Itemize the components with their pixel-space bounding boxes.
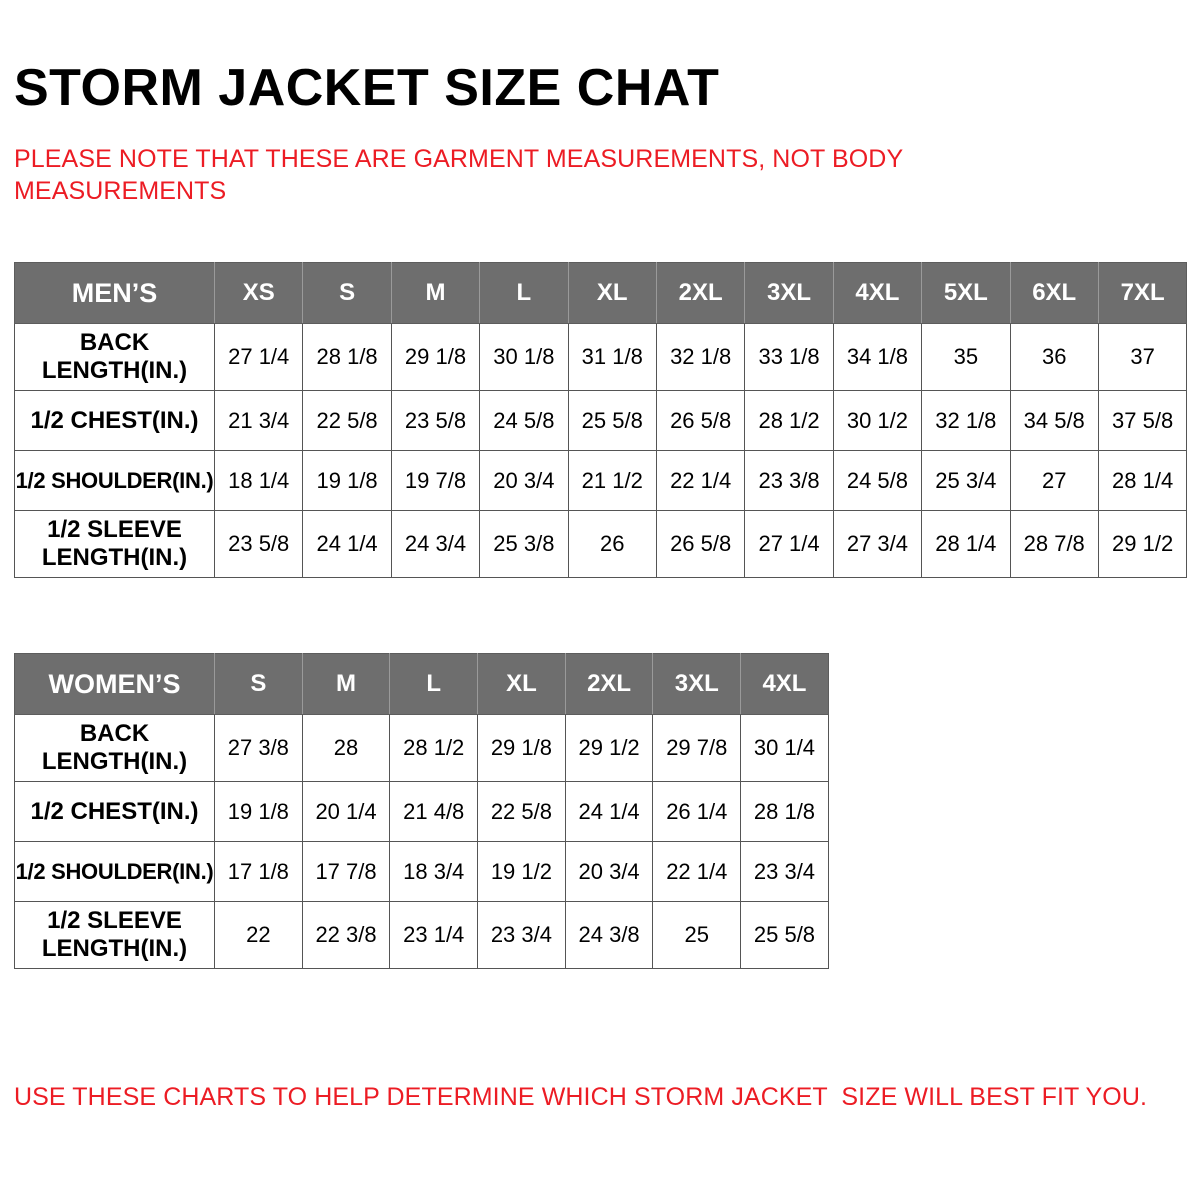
measurement-cell: 30 1/8 bbox=[480, 324, 568, 391]
measurement-cell: 28 7/8 bbox=[1010, 511, 1098, 578]
measurement-cell: 23 3/4 bbox=[478, 902, 566, 969]
mens-header-size-xl: XL bbox=[568, 263, 656, 324]
mens-row-label: 1/2 SLEEVELENGTH(IN.) bbox=[15, 511, 215, 578]
measurement-cell: 32 1/8 bbox=[922, 391, 1010, 451]
womens-header-size-s: S bbox=[215, 654, 303, 715]
page-title: STORM JACKET SIZE CHAT bbox=[14, 61, 719, 116]
measurement-cell: 28 1/8 bbox=[741, 782, 829, 842]
measurement-cell: 19 1/8 bbox=[303, 451, 391, 511]
measurement-cell: 20 1/4 bbox=[302, 782, 390, 842]
mens-header-size-4xl: 4XL bbox=[833, 263, 921, 324]
mens-header-size-7xl: 7XL bbox=[1098, 263, 1186, 324]
measurement-cell: 30 1/4 bbox=[741, 715, 829, 782]
mens-row-label: 1/2 SHOULDER(IN.) bbox=[15, 451, 215, 511]
measurement-cell: 26 5/8 bbox=[656, 511, 744, 578]
measurement-cell: 26 5/8 bbox=[656, 391, 744, 451]
womens-row-label: 1/2 SHOULDER(IN.) bbox=[15, 842, 215, 902]
womens-row-label: BACKLENGTH(IN.) bbox=[15, 715, 215, 782]
measurement-cell: 27 bbox=[1010, 451, 1098, 511]
mens-header-size-xs: XS bbox=[215, 263, 303, 324]
measurement-cell: 23 5/8 bbox=[391, 391, 479, 451]
measurement-cell: 23 5/8 bbox=[215, 511, 303, 578]
mens-header-size-6xl: 6XL bbox=[1010, 263, 1098, 324]
womens-header-size-2xl: 2XL bbox=[565, 654, 653, 715]
measurement-cell: 25 3/8 bbox=[480, 511, 568, 578]
garment-measurement-note: PLEASE NOTE THAT THESE ARE GARMENT MEASU… bbox=[14, 143, 974, 207]
mens-header-size-2xl: 2XL bbox=[656, 263, 744, 324]
measurement-cell: 25 5/8 bbox=[741, 902, 829, 969]
measurement-cell: 22 1/4 bbox=[656, 451, 744, 511]
measurement-cell: 31 1/8 bbox=[568, 324, 656, 391]
measurement-cell: 22 bbox=[215, 902, 303, 969]
measurement-cell: 17 1/8 bbox=[215, 842, 303, 902]
measurement-cell: 21 3/4 bbox=[215, 391, 303, 451]
measurement-cell: 27 3/4 bbox=[833, 511, 921, 578]
table-row: BACKLENGTH(IN.)27 1/428 1/829 1/830 1/83… bbox=[15, 324, 1187, 391]
table-row: BACKLENGTH(IN.)27 3/82828 1/229 1/829 1/… bbox=[15, 715, 829, 782]
measurement-cell: 28 1/2 bbox=[390, 715, 478, 782]
measurement-cell: 32 1/8 bbox=[656, 324, 744, 391]
measurement-cell: 25 bbox=[653, 902, 741, 969]
mens-header-row: MEN’SXSSMLXL2XL3XL4XL5XL6XL7XL bbox=[15, 263, 1187, 324]
measurement-cell: 23 3/8 bbox=[745, 451, 833, 511]
measurement-cell: 36 bbox=[1010, 324, 1098, 391]
measurement-cell: 37 5/8 bbox=[1098, 391, 1186, 451]
measurement-cell: 29 1/2 bbox=[565, 715, 653, 782]
womens-header-label: WOMEN’S bbox=[15, 654, 215, 715]
measurement-cell: 26 bbox=[568, 511, 656, 578]
measurement-cell: 29 1/8 bbox=[391, 324, 479, 391]
table-row: 1/2 SHOULDER(IN.)17 1/817 7/818 3/419 1/… bbox=[15, 842, 829, 902]
measurement-cell: 27 1/4 bbox=[215, 324, 303, 391]
measurement-cell: 25 5/8 bbox=[568, 391, 656, 451]
measurement-cell: 21 1/2 bbox=[568, 451, 656, 511]
measurement-cell: 34 1/8 bbox=[833, 324, 921, 391]
measurement-cell: 24 3/4 bbox=[391, 511, 479, 578]
measurement-cell: 19 7/8 bbox=[391, 451, 479, 511]
table-row: 1/2 SLEEVELENGTH(IN.)2222 3/823 1/423 3/… bbox=[15, 902, 829, 969]
measurement-cell: 29 7/8 bbox=[653, 715, 741, 782]
mens-header-size-3xl: 3XL bbox=[745, 263, 833, 324]
measurement-cell: 24 5/8 bbox=[833, 451, 921, 511]
mens-header-size-l: L bbox=[480, 263, 568, 324]
measurement-cell: 22 3/8 bbox=[302, 902, 390, 969]
mens-table-body: BACKLENGTH(IN.)27 1/428 1/829 1/830 1/83… bbox=[15, 324, 1187, 578]
measurement-cell: 27 3/8 bbox=[215, 715, 303, 782]
womens-header-row: WOMEN’SSMLXL2XL3XL4XL bbox=[15, 654, 829, 715]
mens-header-label: MEN’S bbox=[15, 263, 215, 324]
mens-row-label: 1/2 CHEST(IN.) bbox=[15, 391, 215, 451]
measurement-cell: 37 bbox=[1098, 324, 1186, 391]
measurement-cell: 26 1/4 bbox=[653, 782, 741, 842]
womens-size-table: WOMEN’SSMLXL2XL3XL4XL BACKLENGTH(IN.)27 … bbox=[14, 653, 829, 969]
womens-header-size-xl: XL bbox=[478, 654, 566, 715]
measurement-cell: 24 3/8 bbox=[565, 902, 653, 969]
measurement-cell: 23 1/4 bbox=[390, 902, 478, 969]
womens-table-head: WOMEN’SSMLXL2XL3XL4XL bbox=[15, 654, 829, 715]
mens-size-table: MEN’SXSSMLXL2XL3XL4XL5XL6XL7XL BACKLENGT… bbox=[14, 262, 1187, 578]
womens-header-size-3xl: 3XL bbox=[653, 654, 741, 715]
table-row: 1/2 CHEST(IN.)19 1/820 1/421 4/822 5/824… bbox=[15, 782, 829, 842]
mens-table-head: MEN’SXSSMLXL2XL3XL4XL5XL6XL7XL bbox=[15, 263, 1187, 324]
measurement-cell: 28 bbox=[302, 715, 390, 782]
measurement-cell: 24 1/4 bbox=[303, 511, 391, 578]
womens-header-size-m: M bbox=[302, 654, 390, 715]
measurement-cell: 24 5/8 bbox=[480, 391, 568, 451]
measurement-cell: 29 1/8 bbox=[478, 715, 566, 782]
measurement-cell: 35 bbox=[922, 324, 1010, 391]
measurement-cell: 17 7/8 bbox=[302, 842, 390, 902]
measurement-cell: 33 1/8 bbox=[745, 324, 833, 391]
measurement-cell: 18 1/4 bbox=[215, 451, 303, 511]
table-row: 1/2 CHEST(IN.)21 3/422 5/823 5/824 5/825… bbox=[15, 391, 1187, 451]
measurement-cell: 22 5/8 bbox=[303, 391, 391, 451]
measurement-cell: 20 3/4 bbox=[480, 451, 568, 511]
womens-header-size-4xl: 4XL bbox=[741, 654, 829, 715]
measurement-cell: 19 1/8 bbox=[215, 782, 303, 842]
womens-table-body: BACKLENGTH(IN.)27 3/82828 1/229 1/829 1/… bbox=[15, 715, 829, 969]
measurement-cell: 18 3/4 bbox=[390, 842, 478, 902]
measurement-cell: 28 1/4 bbox=[1098, 451, 1186, 511]
measurement-cell: 30 1/2 bbox=[833, 391, 921, 451]
measurement-cell: 22 5/8 bbox=[478, 782, 566, 842]
mens-header-size-s: S bbox=[303, 263, 391, 324]
footer-note: USE THESE CHARTS TO HELP DETERMINE WHICH… bbox=[14, 1083, 1174, 1112]
measurement-cell: 28 1/8 bbox=[303, 324, 391, 391]
table-row: 1/2 SLEEVELENGTH(IN.)23 5/824 1/424 3/42… bbox=[15, 511, 1187, 578]
mens-header-size-m: M bbox=[391, 263, 479, 324]
measurement-cell: 19 1/2 bbox=[478, 842, 566, 902]
table-row: 1/2 SHOULDER(IN.)18 1/419 1/819 7/820 3/… bbox=[15, 451, 1187, 511]
measurement-cell: 27 1/4 bbox=[745, 511, 833, 578]
womens-row-label: 1/2 SLEEVELENGTH(IN.) bbox=[15, 902, 215, 969]
mens-header-size-5xl: 5XL bbox=[922, 263, 1010, 324]
womens-header-size-l: L bbox=[390, 654, 478, 715]
measurement-cell: 22 1/4 bbox=[653, 842, 741, 902]
measurement-cell: 34 5/8 bbox=[1010, 391, 1098, 451]
measurement-cell: 25 3/4 bbox=[922, 451, 1010, 511]
measurement-cell: 20 3/4 bbox=[565, 842, 653, 902]
measurement-cell: 24 1/4 bbox=[565, 782, 653, 842]
measurement-cell: 23 3/4 bbox=[741, 842, 829, 902]
measurement-cell: 21 4/8 bbox=[390, 782, 478, 842]
measurement-cell: 28 1/4 bbox=[922, 511, 1010, 578]
measurement-cell: 29 1/2 bbox=[1098, 511, 1186, 578]
mens-row-label: BACKLENGTH(IN.) bbox=[15, 324, 215, 391]
measurement-cell: 28 1/2 bbox=[745, 391, 833, 451]
womens-row-label: 1/2 CHEST(IN.) bbox=[15, 782, 215, 842]
